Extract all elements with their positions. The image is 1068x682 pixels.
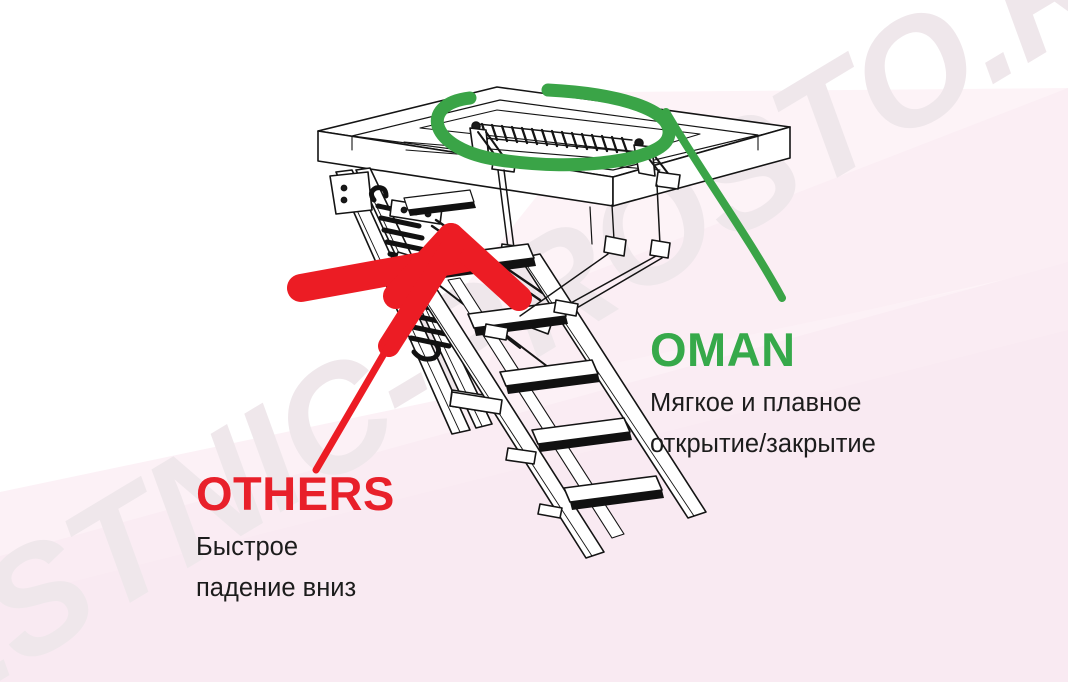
others-line-1: Быстрое [196,527,395,568]
callout-others: OTHERS Быстрое падение вниз [196,470,395,610]
red-leader-line [316,340,392,470]
green-ellipse-highlight [437,90,669,165]
oman-title: OMAN [650,326,876,373]
others-line-2: падение вниз [196,568,395,609]
oman-line-1: Мягкое и плавное [650,383,876,424]
green-leader-line [666,112,782,298]
annotation-marks [0,0,1068,682]
others-title: OTHERS [196,470,395,517]
callout-oman: OMAN Мягкое и плавное открытие/закрытие [650,326,876,466]
oman-line-2: открытие/закрытие [650,424,876,465]
red-arrow-left [301,236,519,346]
infographic-canvas: LESTNIC-PROSTO.RU [0,0,1068,682]
